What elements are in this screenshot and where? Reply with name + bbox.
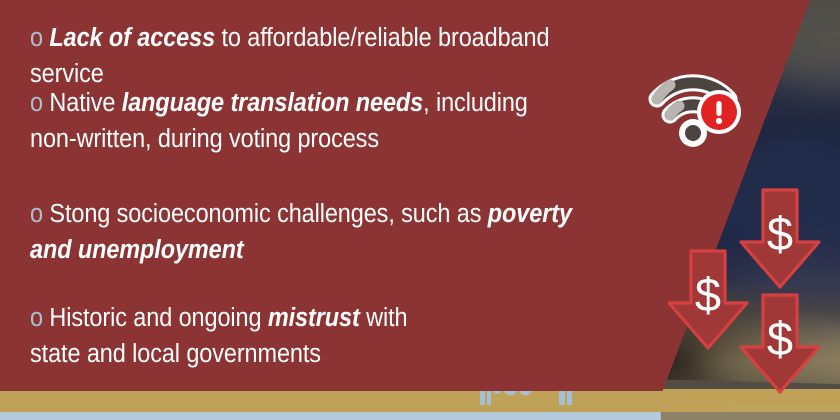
bullet-item-3: o Stong socioeconomic challenges, such a… bbox=[30, 196, 572, 268]
bullet-emphasis: language translation needs bbox=[122, 89, 423, 117]
dollar-glyph: $ bbox=[767, 207, 793, 260]
bullet-marker: o bbox=[30, 200, 49, 228]
dollar-glyph: $ bbox=[695, 268, 721, 321]
gold-accent-band bbox=[0, 389, 840, 412]
bullet-text: Native bbox=[49, 89, 121, 117]
bullet-item-4: o Historic and ongoing mistrust with sta… bbox=[30, 300, 407, 372]
dollar-down-arrow-icon: $ bbox=[737, 292, 823, 396]
bullet-emphasis: mistrust bbox=[268, 304, 360, 332]
bullet-marker: o bbox=[30, 304, 49, 332]
bullet-list: o Lack of access to affordable/reliable … bbox=[0, 0, 680, 391]
bullet-item-1: o Lack of access to affordable/reliable … bbox=[30, 20, 628, 92]
slide-canvas: ? ? ? bbox=[0, 0, 840, 420]
bullet-marker: o bbox=[30, 89, 49, 117]
bullet-emphasis: Lack of access bbox=[49, 24, 215, 52]
bullet-item-2: o Native language translation needs, inc… bbox=[30, 85, 528, 157]
bullet-marker: o bbox=[30, 24, 49, 52]
dollar-glyph: $ bbox=[767, 312, 793, 365]
bullet-text: Historic and ongoing bbox=[49, 304, 267, 332]
bullet-text: Stong socioeconomic challenges, such as bbox=[49, 200, 487, 228]
